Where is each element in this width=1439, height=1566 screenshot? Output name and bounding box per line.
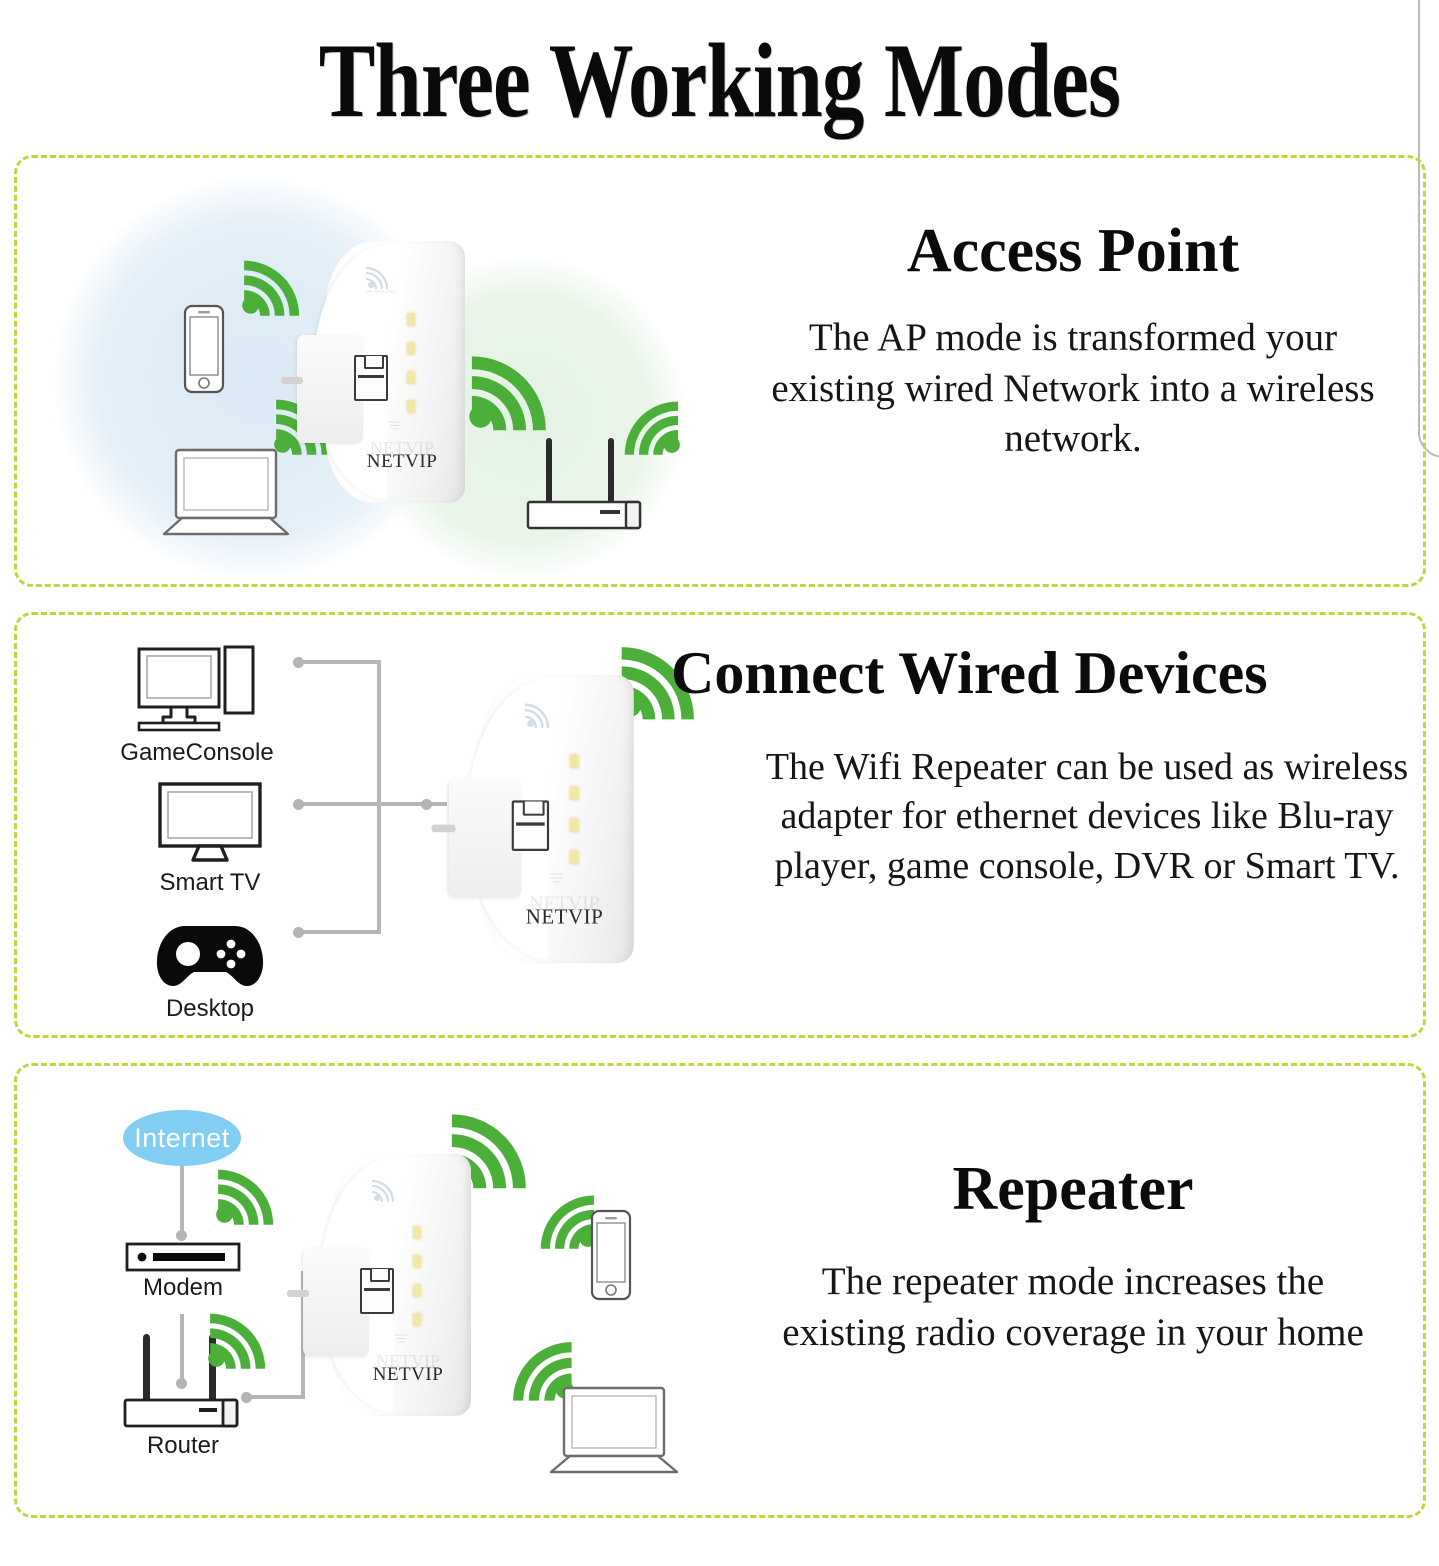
internet-label: Internet <box>134 1123 230 1154</box>
laptop-icon <box>160 446 292 538</box>
tv-icon <box>157 781 263 865</box>
mode-description: The AP mode is transformed your existing… <box>771 313 1375 465</box>
mode-description: The Wifi Repeater can be used as wireles… <box>745 743 1429 891</box>
modem-icon <box>125 1242 241 1272</box>
page-title: Three Working Modes <box>144 28 1295 134</box>
mode-description: The repeater mode increases the existing… <box>767 1256 1379 1359</box>
wps-button-icon <box>548 871 566 885</box>
mode-heading: Connect Wired Devices <box>671 643 1439 704</box>
wire-node <box>293 927 304 938</box>
device-label: Router <box>63 1432 303 1460</box>
wifi-repeater-device: NETVIP NETVIP <box>449 675 653 992</box>
mode-section-repeater: Internet Modem <box>14 1063 1426 1518</box>
connect-wired-copy: Connect Wired Devices The Wifi Repeater … <box>723 615 1423 1035</box>
device-logo-icon: WIFI REPEATER <box>361 267 405 293</box>
laptop-icon <box>547 1384 681 1476</box>
wifi-signal-icon <box>239 253 303 317</box>
wire-segment <box>180 1166 184 1238</box>
wifi-repeater-device: NETVIP NETVIP <box>303 1154 471 1416</box>
wire-segment <box>299 930 381 934</box>
internet-bubble-icon: Internet <box>123 1110 241 1166</box>
device-brand-label: NETVIP <box>353 1364 463 1386</box>
access-point-copy: Access Point The AP mode is transformed … <box>723 158 1423 584</box>
svg-text:WIFI REPEATER: WIFI REPEATER <box>365 289 396 293</box>
repeater-illustration: Internet Modem <box>17 1066 707 1515</box>
device-label: Modem <box>63 1274 303 1302</box>
wifi-signal-icon <box>465 346 551 432</box>
device-label: Desktop <box>85 995 335 1023</box>
mode-heading: Repeater <box>723 1158 1423 1221</box>
device-logo-icon <box>367 1180 411 1206</box>
device-logo-icon <box>519 704 567 733</box>
wire-segment <box>377 660 381 934</box>
gamepad-icon <box>155 920 265 990</box>
repeater-copy: Repeater The repeater mode increases the… <box>723 1066 1423 1515</box>
wire-segment <box>299 660 381 664</box>
wire-node <box>421 799 432 810</box>
wifi-signal-icon <box>621 394 683 456</box>
smartphone-icon <box>182 303 226 395</box>
mode-heading: Access Point <box>723 220 1423 283</box>
connect-wired-illustration: GameConsole Smart TV <box>17 615 707 1035</box>
device-brand-label: NETVIP <box>504 906 625 930</box>
wps-button-icon <box>387 419 403 432</box>
mode-section-connect-wired-devices: GameConsole Smart TV <box>14 612 1426 1038</box>
wps-button-icon <box>393 1332 409 1345</box>
device-label: Smart TV <box>85 869 335 897</box>
smartphone-icon <box>589 1208 633 1302</box>
wifi-signal-icon <box>205 1306 269 1370</box>
wifi-repeater-device: WIFI REPEATER NETVIP NETVIP <box>297 241 465 503</box>
device-label: GameConsole <box>72 739 322 767</box>
desktop-computer-icon <box>135 643 257 735</box>
wifi-signal-icon <box>213 1162 277 1226</box>
mode-section-access-point: WIFI REPEATER NETVIP NETVIP Access Po <box>14 155 1426 587</box>
wire-segment <box>247 1395 305 1399</box>
device-brand-label: NETVIP <box>347 451 457 473</box>
infographic-page: Three Working Modes <box>0 0 1439 1566</box>
access-point-illustration: WIFI REPEATER NETVIP NETVIP <box>17 158 707 584</box>
wire-node <box>293 799 304 810</box>
wire-node <box>176 1230 187 1241</box>
